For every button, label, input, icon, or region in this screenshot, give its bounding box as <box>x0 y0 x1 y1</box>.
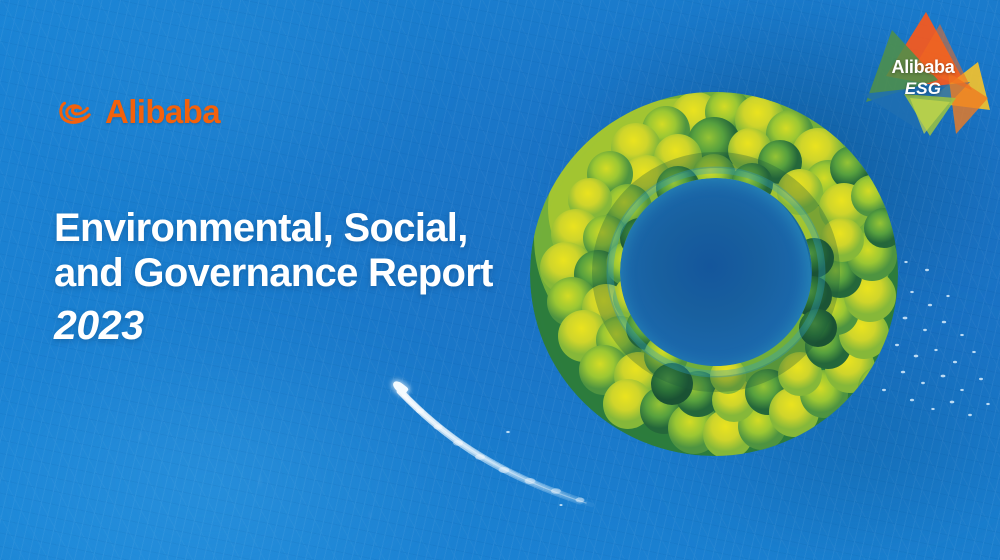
alibaba-logo: Alibaba <box>58 95 220 128</box>
report-cover: Alibaba Environmental, Social, and Gover… <box>0 0 1000 560</box>
overlapping-triangles-icon <box>852 6 994 140</box>
cover-title-block: Environmental, Social, and Governance Re… <box>54 206 574 346</box>
report-year: 2023 <box>54 305 574 346</box>
alibaba-esg-badge: Alibaba ESG <box>852 6 994 140</box>
title-line-1: Environmental, Social, <box>54 206 574 251</box>
alibaba-wordmark: Alibaba <box>105 95 220 128</box>
alibaba-smile-icon <box>58 97 94 127</box>
title-line-2: and Governance Report <box>54 251 574 296</box>
